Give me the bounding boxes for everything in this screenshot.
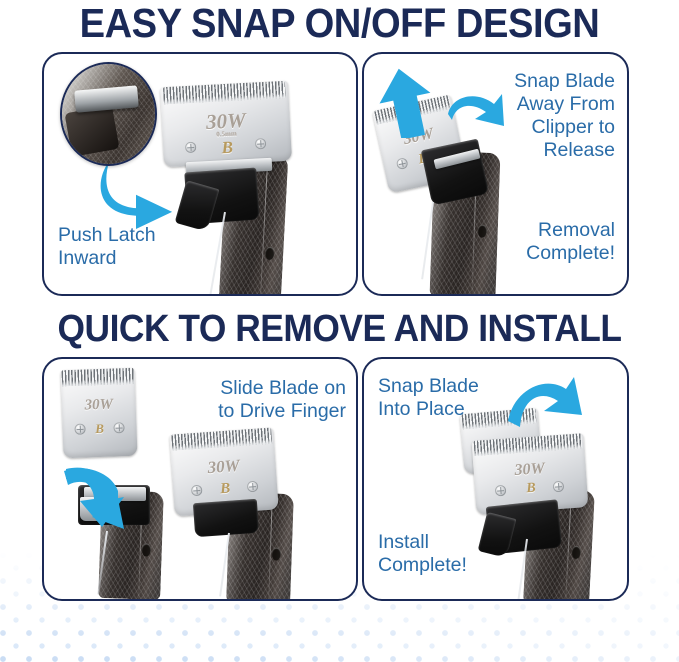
panel-slide-blade: 30W B 30W B [42, 357, 358, 601]
magnifier-inset-latch-body [64, 105, 119, 157]
brand-logo-b: B [95, 421, 104, 437]
handle-hole [571, 546, 581, 559]
arrow-down-curved-icon [62, 467, 124, 539]
clipper-illustration-right: 30W B [166, 431, 326, 601]
magnifier-inset-latch-closeup [60, 62, 157, 166]
caption-install-complete: Install Complete! [378, 531, 548, 577]
caption-snap-into-place: Snap Blade Into Place [378, 375, 548, 421]
handle-seam [565, 494, 572, 601]
clipper-blade: 30W 0.5mm B [160, 81, 292, 168]
panel-snap-into-place: 30W B Snap Blade Into Place Install Comp… [362, 357, 629, 601]
clipper-latch [193, 499, 259, 537]
page-title-easy-snap: EASY SNAP ON/OFF DESIGN [24, 0, 655, 48]
page-title-quick-remove: QUICK TO REMOVE AND INSTALL [24, 305, 655, 353]
caption-removal-complete: Removal Complete! [435, 219, 615, 265]
handle-hole [265, 247, 275, 260]
blade-teeth [62, 368, 134, 386]
handle-hole [272, 547, 281, 560]
handle-hole [142, 543, 151, 556]
handle-seam [268, 498, 273, 601]
brand-logo-b: B [221, 138, 233, 159]
handle-seam [259, 161, 269, 296]
brand-logo-b: B [220, 481, 231, 499]
arrow-up-icon [378, 68, 434, 138]
brand-logo-b: B [526, 481, 536, 498]
panel-push-latch: 30W 0.5mm B Push Latch Inward [42, 52, 358, 296]
caption-snap-blade-away: Snap Blade Away From Clipper to Release [435, 70, 615, 162]
detached-blade-upper: 30W B [60, 368, 137, 459]
caption-slide-blade: Slide Blade on to Drive Finger [156, 377, 346, 423]
panel-snap-away: 30W B Snap Blade Away From Clipper to Re… [362, 52, 629, 296]
caption-push-latch: Push Latch Inward [58, 224, 208, 270]
